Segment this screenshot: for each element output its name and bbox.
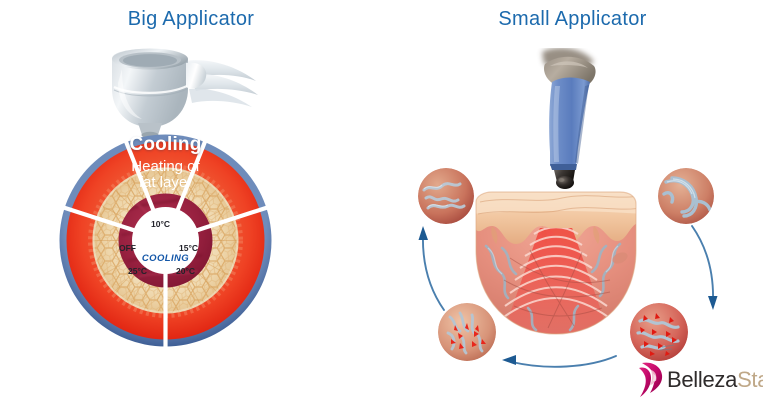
inset-collagen-contract[interactable] [630,303,688,361]
panel-title-big: Big Applicator [0,8,382,31]
panel-big-applicator: Big Applicator [0,0,382,406]
inset-collagen-heated[interactable] [658,168,714,224]
flow-arrow-bottom [498,348,620,374]
woman-silhouette-icon [636,362,666,398]
dial-setting-off[interactable]: OFF [119,243,136,253]
brand-wordmark: BellezaStars [667,367,763,393]
dial-setting-20c[interactable]: 20°C [176,266,195,276]
brand-name-primary: Belleza [667,367,737,392]
dial-setting-10c[interactable]: 10°C [151,219,170,229]
brand-logo[interactable]: BellezaStars [636,361,763,399]
panel-title-small: Small Applicator [382,8,763,31]
brand-name-secondary: Stars [737,367,763,392]
dial-setting-25c[interactable]: 25°C [128,266,147,276]
inset-collagen-before[interactable] [418,168,474,224]
big-applicator-handpiece [88,47,258,139]
dial-setting-15c[interactable]: 15°C [179,243,198,253]
small-applicator-wand [528,48,612,190]
flow-arrow-right [684,224,722,312]
skin-cross-section [470,188,642,336]
tissue-layer-wheel[interactable]: Cooling Heating of fat layer 10°C 15°C 2… [56,131,275,350]
flow-arrow-left [414,224,452,312]
dial-mode-label: COOLING [56,253,275,264]
